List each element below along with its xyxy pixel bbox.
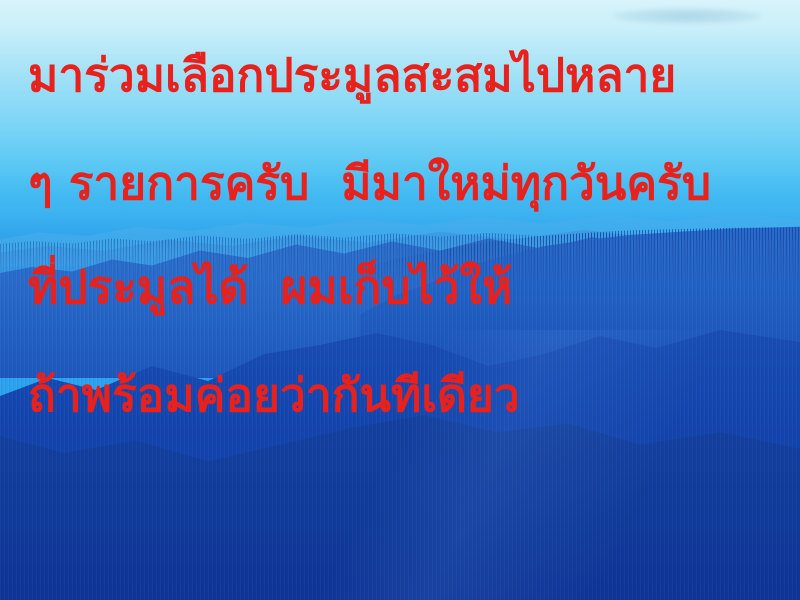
banner-image: มาร่วมเลือกประมูลสะสมไปหลาย ๆ รายการครับ…	[0, 0, 800, 600]
caption-overlay: มาร่วมเลือกประมูลสะสมไปหลาย ๆ รายการครับ…	[0, 0, 800, 600]
caption-line-4: ถ้าพร้อมค่อยว่ากันทีเดียว	[28, 372, 788, 418]
caption-line-1: มาร่วมเลือกประมูลสะสมไปหลาย	[28, 52, 788, 98]
caption-line-3: ที่ประมูลได้ ผมเก็บไว้ให้	[28, 264, 788, 310]
caption-line-2: ๆ รายการครับ มีมาใหม่ทุกวันครับ	[28, 160, 788, 206]
